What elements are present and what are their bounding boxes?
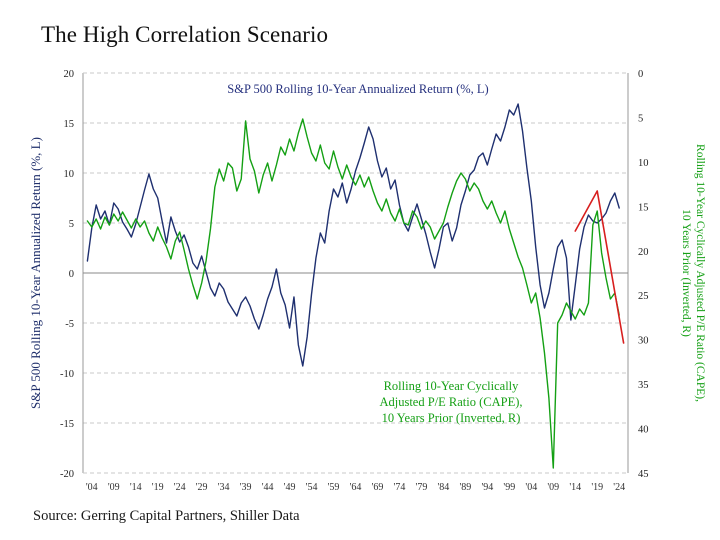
x-tick-label: '09: [108, 482, 120, 493]
series-line-cape: [87, 119, 619, 468]
y-tick-label-right: 10: [638, 158, 649, 169]
y-tick-label-right: 45: [638, 469, 649, 480]
x-tick-label: '79: [416, 482, 428, 493]
y-tick-label-left: -5: [65, 319, 74, 330]
x-tick-label: '84: [437, 482, 449, 493]
y-tick-label-right: 40: [638, 425, 649, 436]
x-tick-label: '04: [525, 482, 537, 493]
y-tick-label-right: 35: [638, 380, 649, 391]
x-tick-label: '74: [394, 482, 406, 493]
y-tick-label-right: 25: [638, 291, 649, 302]
y-tick-label-left: 0: [69, 269, 74, 280]
x-tick-label: '59: [328, 482, 340, 493]
x-tick-label: '34: [218, 482, 230, 493]
x-tick-label: '54: [306, 482, 318, 493]
axis-title-right-line: 10 Years Prior (Inverted, R): [680, 209, 692, 337]
legend-label-cape: Adjusted P/E Ratio (CAPE),: [379, 395, 522, 409]
x-tick-label: '19: [152, 482, 164, 493]
legend-label-cape: 10 Years Prior (Inverted, R): [382, 411, 521, 425]
x-tick-label: '99: [503, 482, 515, 493]
x-tick-label: '09: [547, 482, 559, 493]
y-tick-label-right: 20: [638, 247, 649, 258]
y-tick-label-left: 15: [64, 119, 75, 130]
x-tick-label: '44: [262, 482, 274, 493]
legend-label-cape: Rolling 10-Year Cyclically: [384, 379, 520, 393]
y-tick-label-left: -20: [60, 469, 74, 480]
y-tick-label-left: 10: [64, 169, 75, 180]
projection-line: [575, 191, 623, 343]
y-tick-label-left: 5: [69, 219, 74, 230]
y-tick-label-right: 0: [638, 69, 643, 80]
y-tick-label-left: -15: [60, 419, 74, 430]
axis-title-right: Rolling 10-Year Cyclically Adjusted P/E …: [680, 144, 706, 402]
correlation-chart: 20151050-5-10-15-20051015202530354045'04…: [0, 0, 720, 500]
y-tick-label-right: 30: [638, 336, 649, 347]
x-tick-label: '14: [569, 482, 581, 493]
axis-title-left: S&P 500 Rolling 10-Year Annualized Retur…: [28, 137, 43, 409]
x-tick-label: '14: [130, 482, 142, 493]
slide-root: The High Correlation Scenario 20151050-5…: [0, 0, 720, 540]
y-tick-label-left: 20: [64, 69, 75, 80]
x-tick-label: '24: [174, 482, 186, 493]
x-tick-label: '64: [350, 482, 362, 493]
x-tick-label: '04: [86, 482, 98, 493]
x-tick-label: '69: [372, 482, 384, 493]
y-tick-label-right: 15: [638, 202, 649, 213]
chart-area: 20151050-5-10-15-20051015202530354045'04…: [0, 0, 720, 500]
source-note: Source: Gerring Capital Partners, Shille…: [33, 508, 300, 525]
x-tick-label: '39: [240, 482, 252, 493]
x-tick-label: '29: [196, 482, 208, 493]
x-tick-label: '94: [481, 482, 493, 493]
x-tick-label: '19: [591, 482, 603, 493]
legend-label-sp500: S&P 500 Rolling 10-Year Annualized Retur…: [227, 82, 488, 96]
y-tick-label-left: -10: [60, 369, 74, 380]
series-line-sp500: [87, 104, 619, 366]
x-tick-label: '49: [284, 482, 296, 493]
x-tick-label: '24: [613, 482, 625, 493]
axis-title-right-line: Rolling 10-Year Cyclically Adjusted P/E …: [694, 144, 706, 402]
x-tick-label: '89: [459, 482, 471, 493]
y-tick-label-right: 5: [638, 113, 643, 124]
